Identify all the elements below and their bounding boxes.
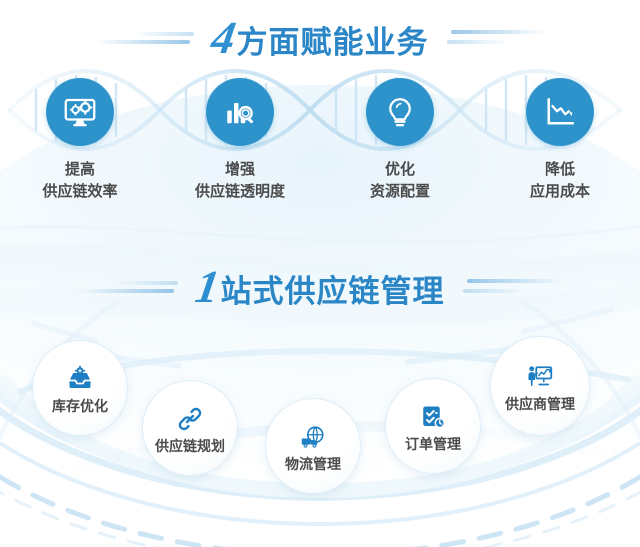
benefit-label-line1: 增强 xyxy=(195,159,285,181)
clipboard-clock-icon xyxy=(418,402,448,432)
benefit-icon-circle xyxy=(46,78,114,146)
benefit-icon-circle xyxy=(366,78,434,146)
benefit-label-line1: 优化 xyxy=(370,159,430,181)
section-one-title: 4 方面赋能业务 xyxy=(0,14,640,62)
presenter-board-icon xyxy=(525,362,555,392)
capability-label: 物流管理 xyxy=(285,457,341,471)
monitor-gears-icon xyxy=(62,94,98,130)
title-deco-left-icon xyxy=(72,275,192,299)
capability-label: 供应商管理 xyxy=(505,397,575,411)
capability-bubble-logistics[interactable]: 物流管理 xyxy=(265,398,361,494)
infographic-poster: 4 方面赋能业务 xyxy=(0,0,640,547)
benefit-icon-row: 提高 供应链效率 xyxy=(0,78,640,218)
section-two-title: 1 站式供应链管理 xyxy=(0,263,640,311)
capability-bubble-planning[interactable]: 供应链规划 xyxy=(142,380,238,476)
capability-bubble-inventory[interactable]: 库存优化 xyxy=(32,340,128,436)
benefit-label: 增强 供应链透明度 xyxy=(195,159,285,203)
benefit-item-efficiency[interactable]: 提高 供应链效率 xyxy=(5,78,155,203)
benefit-item-cost[interactable]: 降低 应用成本 xyxy=(485,78,635,203)
chain-link-icon xyxy=(175,404,205,434)
section-one-title-text: 方面赋能业务 xyxy=(237,27,429,58)
declining-line-chart-icon xyxy=(542,94,578,130)
capability-bubble-supplier[interactable]: 供应商管理 xyxy=(490,336,590,436)
section-two-title-text: 站式供应链管理 xyxy=(221,276,445,307)
section-one-title-number: 4 xyxy=(208,15,237,61)
inbox-gear-icon xyxy=(65,364,95,394)
capability-label: 订单管理 xyxy=(405,437,461,451)
benefit-label: 提高 供应链效率 xyxy=(42,159,117,203)
capability-bubble-group: 库存优化 供应链规划 物流管理 xyxy=(0,318,640,547)
benefit-label-line2: 资源配置 xyxy=(370,181,430,203)
benefit-icon-circle xyxy=(206,78,274,146)
capability-label: 供应链规划 xyxy=(155,439,225,453)
benefit-label-line1: 提高 xyxy=(42,159,117,181)
benefit-label-line2: 供应链透明度 xyxy=(195,181,285,203)
bar-chart-magnifier-icon xyxy=(222,94,258,130)
benefit-label-line2: 应用成本 xyxy=(530,181,590,203)
benefit-item-resource[interactable]: 优化 资源配置 xyxy=(325,78,475,203)
section-four-benefits: 4 方面赋能业务 xyxy=(0,0,640,230)
benefit-label-line2: 供应链效率 xyxy=(42,181,117,203)
title-deco-left-icon xyxy=(88,26,208,50)
benefit-label-line1: 降低 xyxy=(530,159,590,181)
title-deco-right-icon xyxy=(433,26,553,50)
benefit-icon-circle xyxy=(526,78,594,146)
globe-truck-icon xyxy=(298,422,328,452)
capability-label: 库存优化 xyxy=(52,399,108,413)
capability-bubble-order[interactable]: 订单管理 xyxy=(385,378,481,474)
benefit-label: 降低 应用成本 xyxy=(530,159,590,203)
lightbulb-icon xyxy=(382,94,418,130)
benefit-label: 优化 资源配置 xyxy=(370,159,430,203)
benefit-item-transparency[interactable]: 增强 供应链透明度 xyxy=(165,78,315,203)
title-deco-right-icon xyxy=(449,275,569,299)
section-two-title-number: 1 xyxy=(192,264,221,310)
